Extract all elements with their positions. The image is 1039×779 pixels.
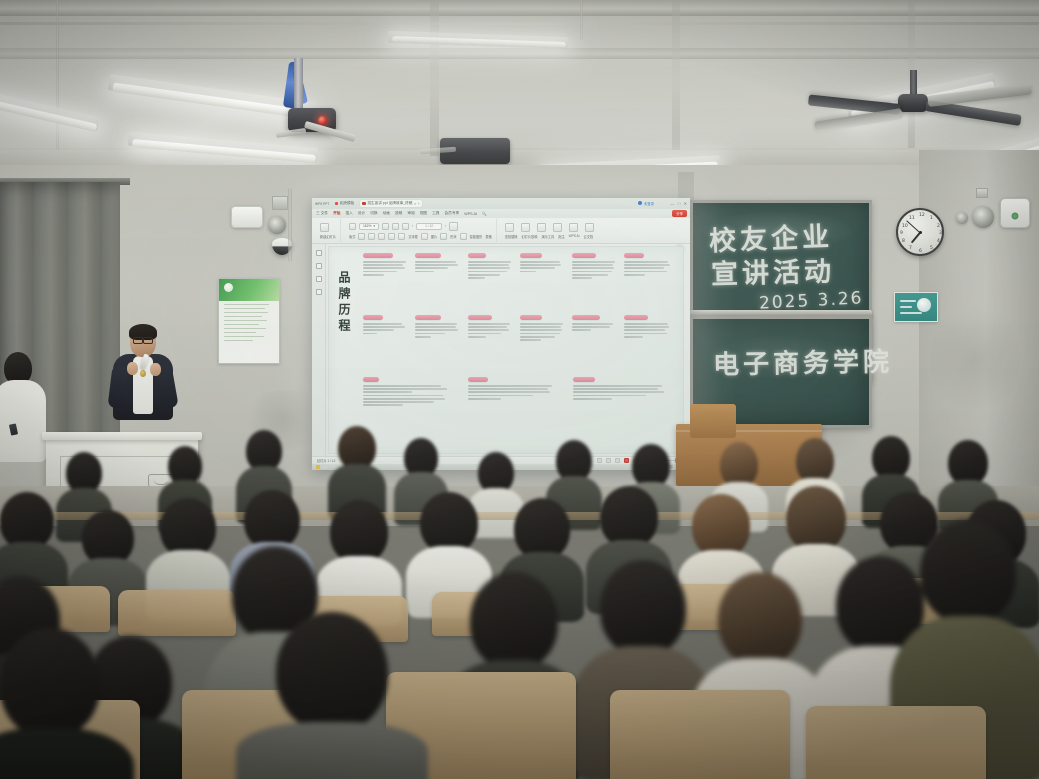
ceiling-conduit-3 xyxy=(580,0,583,40)
share-button[interactable]: 分享 xyxy=(672,210,687,217)
wps-titlebar: WPS PPT 稻壳模板 招生宣讲 ppt 品牌故事_终稿 ✕ + 未登录 — xyxy=(312,198,690,209)
zoom-combo[interactable]: 162% ▾ xyxy=(359,223,379,230)
menu-item-wpsai[interactable]: WPS AI xyxy=(464,212,477,216)
ribbon-label-table: 表格 xyxy=(485,234,491,239)
round-vent-left xyxy=(268,216,286,234)
timeline-item[interactable] xyxy=(363,315,415,375)
wps-tab-label-1: 招生宣讲 ppt 品牌故事_终稿 xyxy=(367,201,412,206)
timeline-grid xyxy=(363,253,678,449)
menu-item-animation[interactable]: 动画 xyxy=(383,211,390,216)
poster-logo-icon xyxy=(224,283,233,292)
presenter-hand-left xyxy=(127,362,138,375)
glasses-icon xyxy=(133,337,153,342)
timeline-item[interactable] xyxy=(624,315,676,375)
ceiling-beam-2 xyxy=(0,48,1039,59)
clock-tick-11: 11 xyxy=(909,216,915,221)
wall-conduit-left xyxy=(288,188,292,262)
clock-tick-5: 5 xyxy=(930,246,933,251)
wps-login-label: 未登录 xyxy=(644,201,654,206)
picture-icon[interactable] xyxy=(368,233,375,240)
clock-tick-9: 9 xyxy=(900,231,903,236)
fan-rod-right xyxy=(910,70,917,96)
tab-close-icon[interactable]: ✕ xyxy=(414,202,417,206)
outline-panel-icon[interactable] xyxy=(316,263,322,269)
sign-emblem-icon xyxy=(917,298,931,312)
projector-mount xyxy=(294,58,303,110)
wps-left-navigation[interactable] xyxy=(312,244,326,456)
zoom-value: 162% xyxy=(363,224,371,228)
timeline-row-2 xyxy=(363,315,678,375)
wps-app-label: WPS PPT xyxy=(315,202,329,206)
find-replace-icon[interactable] xyxy=(505,223,514,232)
window-controls[interactable]: — □ ✕ xyxy=(670,201,687,206)
timeline-item[interactable] xyxy=(415,315,467,375)
round-vent-right xyxy=(972,206,994,228)
audience-body xyxy=(236,722,428,779)
notes-panel-icon[interactable] xyxy=(316,276,322,282)
timeline-item[interactable] xyxy=(363,377,468,439)
clock-tick-10: 10 xyxy=(902,224,908,229)
timeline-item[interactable] xyxy=(468,377,573,439)
ribbon-label-comment: 批注 xyxy=(558,234,564,239)
audience-head xyxy=(718,572,802,666)
menu-item-review[interactable]: 审阅 xyxy=(407,211,414,216)
section-panel-icon[interactable] xyxy=(316,289,322,295)
fit-page-icon[interactable] xyxy=(402,223,409,230)
seat-back-foreground xyxy=(806,706,986,779)
clock-tick-1: 1 xyxy=(930,216,933,221)
tab-dot-icon xyxy=(335,202,339,206)
wps-login-status[interactable]: 未登录 xyxy=(638,201,654,206)
ribbon-label-shape: 形状 xyxy=(450,234,456,239)
ribbon-group-zoom: 162% ▾ ‹ 1 / 12 › 版式 xyxy=(345,219,497,242)
presenter-lapel-pin-icon xyxy=(140,370,146,377)
lecture-hall-photo: 校友企业 宣讲活动 2025 3.26 电子商务学院 12 1 2 3 4 5 … xyxy=(0,0,1039,779)
avatar-icon xyxy=(638,201,642,205)
presenter-hand-right xyxy=(150,363,161,376)
taskbar-start-icon[interactable] xyxy=(316,465,320,469)
ceiling-fan-right xyxy=(898,94,928,112)
projection-screen[interactable]: WPS PPT 稻壳模板 招生宣讲 ppt 品牌故事_终稿 ✕ + 未登录 — xyxy=(312,198,690,470)
audience-head xyxy=(600,486,658,548)
nav-next-icon[interactable]: › xyxy=(445,224,446,228)
timeline-item[interactable] xyxy=(572,253,624,315)
audience-head xyxy=(470,572,558,670)
conduit-junction-box xyxy=(272,196,288,210)
cloud-doc-icon[interactable] xyxy=(585,223,594,232)
image-insert-icon[interactable] xyxy=(421,233,428,240)
menu-file[interactable]: 三 文件 xyxy=(316,211,328,216)
ribbon-label-slideshow: 幻灯片放映 xyxy=(522,234,538,239)
conduit-box-right xyxy=(976,188,988,198)
wifi-access-point xyxy=(231,206,263,228)
poster-header xyxy=(219,279,279,301)
textbox-icon[interactable] xyxy=(358,233,365,240)
timeline-item[interactable] xyxy=(624,253,676,315)
wps-office-window[interactable]: WPS PPT 稻壳模板 招生宣讲 ppt 品牌故事_终稿 ✕ + 未登录 — xyxy=(312,198,690,470)
ribbon-label-textbox: 文本框 xyxy=(408,234,418,239)
lectern-top xyxy=(42,432,202,440)
zoom-in-icon[interactable] xyxy=(382,223,389,230)
ceiling-conduit-1 xyxy=(0,22,1039,25)
audience-head xyxy=(692,494,750,558)
round-vent-right-small xyxy=(956,212,968,224)
clock-tick-7: 7 xyxy=(909,246,912,251)
zoom-icon[interactable] xyxy=(349,223,356,230)
shape-insert-icon[interactable] xyxy=(440,233,447,240)
ribbon-label-layout: 版式 xyxy=(349,234,355,239)
menu-item-insert[interactable]: 插入 xyxy=(345,211,352,216)
wps-ai-icon[interactable] xyxy=(569,223,578,232)
menu-item-transition[interactable]: 切换 xyxy=(370,211,377,216)
audience-head xyxy=(600,560,686,656)
table-icon[interactable] xyxy=(398,233,405,240)
projector-lens-icon xyxy=(318,116,327,125)
clock-tick-2: 2 xyxy=(937,224,940,229)
slideshow-icon[interactable] xyxy=(521,223,530,232)
ceiling-beam-front xyxy=(0,0,1039,16)
timeline-item[interactable] xyxy=(363,253,415,315)
audience-head xyxy=(276,612,388,732)
smartart-icon[interactable] xyxy=(460,233,467,240)
nav-prev-icon[interactable]: ‹ xyxy=(412,224,413,228)
menu-item-start[interactable]: 开始 xyxy=(333,211,340,216)
audience-head xyxy=(0,628,100,738)
sign-right-teal xyxy=(894,292,938,322)
audience-head xyxy=(244,490,300,550)
search-icon[interactable]: 🔍 xyxy=(482,212,487,216)
wps-tab-template[interactable]: 稻壳模板 xyxy=(332,200,356,207)
slide-vertical-title: 品牌历程 xyxy=(336,271,353,335)
audience-head xyxy=(920,520,1016,624)
status-page-label: 幻灯片 1 / 12 xyxy=(317,458,335,463)
menu-item-view[interactable]: 视图 xyxy=(420,211,427,216)
thumbnail-panel-icon[interactable] xyxy=(316,250,322,256)
timeline-item[interactable] xyxy=(520,253,572,315)
ribbon-group-slide: 新建幻灯片 xyxy=(316,219,341,242)
maximize-icon[interactable]: □ xyxy=(678,201,680,206)
timeline-item[interactable] xyxy=(572,315,624,375)
ribbon-label-picture: 图片 xyxy=(431,234,437,239)
clock-hour-hand xyxy=(911,232,921,243)
audience-head xyxy=(786,486,846,552)
ribbon-label-find: 查找替换 xyxy=(505,234,518,239)
wall-stain-2 xyxy=(930,300,1020,420)
new-slide-icon[interactable] xyxy=(320,223,329,232)
wps-menubar[interactable]: 三 文件 开始 插入 设计 切换 动画 放映 审阅 视图 工具 会员专享 WPS… xyxy=(312,209,690,218)
seat-back-foreground xyxy=(610,690,790,779)
timeline-item[interactable] xyxy=(468,253,520,315)
clock-tick-4: 4 xyxy=(937,239,940,244)
clock-tick-6: 6 xyxy=(919,249,922,254)
zoom-out-icon[interactable] xyxy=(392,223,399,230)
ribbon-label-smartart: 智能图形 xyxy=(470,234,483,239)
seat-back xyxy=(118,590,236,636)
close-icon[interactable]: ✕ xyxy=(684,201,687,206)
tab-add-icon[interactable]: + xyxy=(418,202,420,206)
tab-dot-icon-active xyxy=(362,202,366,206)
chalk-smudge-3 xyxy=(707,335,857,379)
poster-left-green-notice xyxy=(218,278,280,364)
comment-icon[interactable] xyxy=(553,223,562,232)
clock-tick-8: 8 xyxy=(902,239,905,244)
timeline-item[interactable] xyxy=(520,315,572,375)
view-notes-icon[interactable] xyxy=(606,458,611,463)
slide-canvas[interactable]: 品牌历程 xyxy=(328,246,684,454)
ribbon-label-wpsai: WPS AI xyxy=(569,234,580,238)
wall-speaker-right xyxy=(1000,198,1030,228)
view-normal-icon[interactable] xyxy=(597,458,602,463)
poster-body-lines xyxy=(219,301,279,344)
clock-center-pin xyxy=(919,231,922,234)
ribbon-label-new-slide: 新建幻灯片 xyxy=(320,234,336,239)
timeline-item[interactable] xyxy=(415,253,467,315)
menu-item-member[interactable]: 会员专享 xyxy=(444,211,459,216)
page-number-input[interactable]: 1 / 12 xyxy=(416,223,442,230)
timeline-item[interactable] xyxy=(468,315,520,375)
clock-tick-3: 3 xyxy=(939,231,942,236)
clock-tick-12: 12 xyxy=(919,213,925,218)
ribbon-label-present-tools: 演示工具 xyxy=(541,234,554,239)
wps-ribbon[interactable]: 新建幻灯片 162% ▾ ‹ 1 / 12 › xyxy=(312,218,690,244)
timeline-row-1 xyxy=(363,253,678,315)
presenter xyxy=(113,326,175,426)
menu-item-tools[interactable]: 工具 xyxy=(432,211,439,216)
view-reading-icon[interactable] xyxy=(615,458,620,463)
ceiling-conduit-2 xyxy=(56,0,59,150)
taskbar-explorer-icon[interactable] xyxy=(323,465,327,469)
audience-head xyxy=(514,498,570,560)
layout-icon[interactable] xyxy=(449,222,458,231)
view-slideshow-icon[interactable] xyxy=(624,458,629,463)
ribbon-label-cloud: 云文档 xyxy=(584,234,594,239)
audience-head xyxy=(160,498,216,558)
chevron-down-icon[interactable]: ▾ xyxy=(373,224,375,228)
wps-tab-active[interactable]: 招生宣讲 ppt 品牌故事_终稿 ✕ + xyxy=(360,200,423,207)
minimize-icon[interactable]: — xyxy=(670,201,674,206)
shape-icon[interactable] xyxy=(378,233,385,240)
menu-item-slideshow[interactable]: 放映 xyxy=(395,211,402,216)
wps-tab-label-0: 稻壳模板 xyxy=(340,201,354,206)
audience-head xyxy=(420,492,478,554)
present-tools-icon[interactable] xyxy=(537,223,546,232)
assistant-body xyxy=(0,380,46,462)
timeline-item[interactable] xyxy=(573,377,678,439)
wall-clock: 12 1 2 3 4 5 6 7 8 9 10 11 xyxy=(896,208,944,256)
timeline-row-3 xyxy=(363,377,678,439)
chart-icon[interactable] xyxy=(388,233,395,240)
menu-item-design[interactable]: 设计 xyxy=(358,211,365,216)
wooden-chair xyxy=(690,404,736,438)
audience-head xyxy=(330,500,388,564)
assistant-person xyxy=(0,352,50,462)
ribbon-group-tools: 查找替换 幻灯片放映 演示工具 批注 WPS AI 云文档 xyxy=(501,219,598,242)
